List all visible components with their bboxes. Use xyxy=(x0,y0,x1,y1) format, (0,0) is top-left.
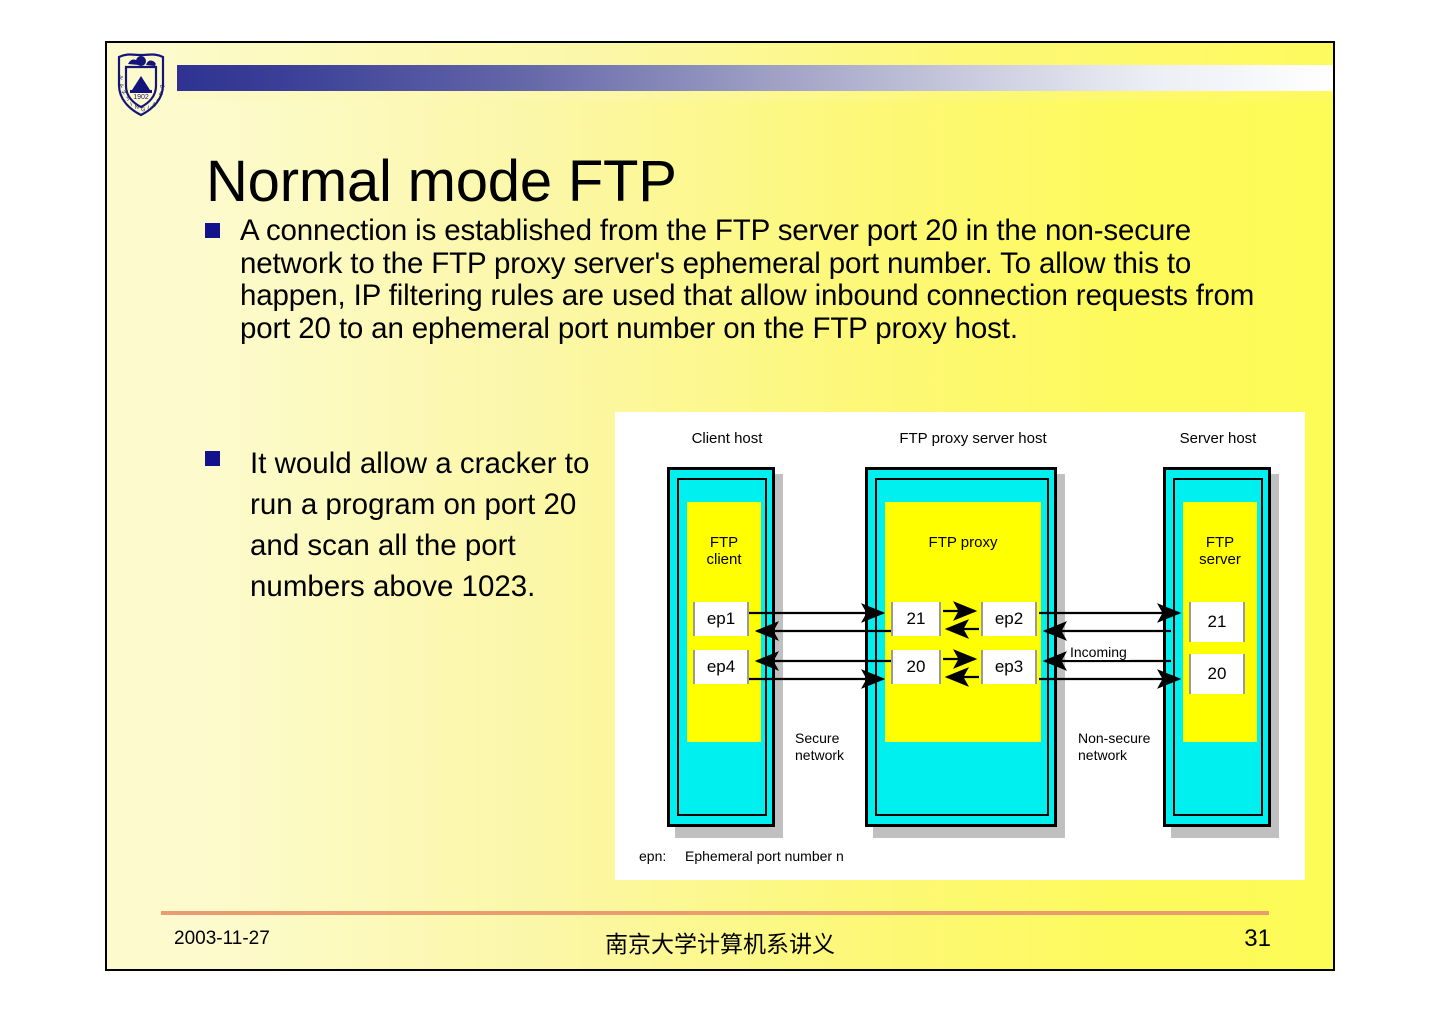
footer-rule xyxy=(161,911,1269,915)
svg-text:N: N xyxy=(135,105,140,111)
page-title: Normal mode FTP xyxy=(206,153,677,211)
secure-network-line1: Secure xyxy=(795,730,839,746)
bullet-marker-icon xyxy=(205,223,220,238)
bullet-item-2-text: It would allow a cracker to run a progra… xyxy=(250,443,625,607)
svg-text:N: N xyxy=(118,75,125,81)
secure-network-label: Secure network xyxy=(795,730,844,764)
connection-arrows xyxy=(615,412,1305,880)
header-gradient-bar xyxy=(167,65,1335,91)
non-secure-network-label: Non-secure network xyxy=(1078,730,1150,764)
non-secure-network-line1: Non-secure xyxy=(1078,730,1150,746)
footer-page-number: 31 xyxy=(1244,925,1271,953)
bullet-item-1-text: A connection is established from the FTP… xyxy=(240,215,1265,345)
svg-text:E: E xyxy=(158,84,165,90)
footer-center-text: 南京大学计算机系讲义 xyxy=(107,925,1333,959)
slide: 1902 N A N J I N G U N I V E Normal mode… xyxy=(105,41,1335,971)
bullet-item-2: It would allow a cracker to run a progra… xyxy=(205,443,625,607)
header-band-lower xyxy=(107,91,1333,101)
ftp-normal-mode-diagram: Client host FTP proxy server host Server… xyxy=(615,412,1305,880)
legend-key: epn: xyxy=(639,848,666,864)
svg-text:G: G xyxy=(141,107,146,113)
bullet-marker-icon xyxy=(205,451,220,466)
non-secure-network-line2: network xyxy=(1078,747,1127,763)
secure-network-line2: network xyxy=(795,747,844,763)
university-crest-icon: 1902 N A N J I N G U N I V E xyxy=(105,41,177,123)
svg-text:1902: 1902 xyxy=(133,94,149,101)
header-band xyxy=(107,43,1333,65)
legend-text: Ephemeral port number n xyxy=(685,848,844,864)
incoming-label: Incoming xyxy=(1067,644,1130,660)
bullet-item-1: A connection is established from the FTP… xyxy=(205,215,1265,345)
